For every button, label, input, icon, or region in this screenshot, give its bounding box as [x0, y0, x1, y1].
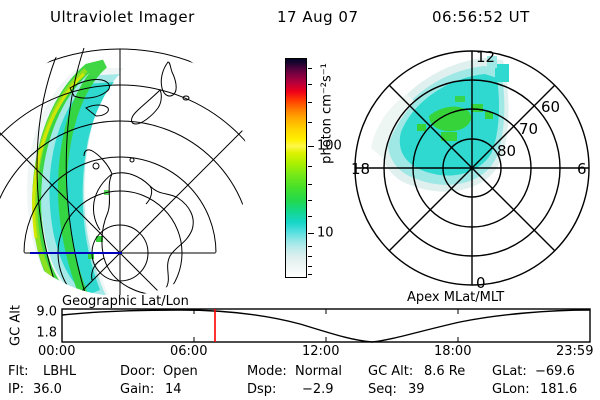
status-gcalt-label: GC Alt:: [368, 364, 413, 379]
status-glon-label: GLon:: [492, 382, 530, 397]
status-door-value: Open: [163, 364, 198, 379]
aurora-emission-geographic: [27, 64, 124, 295]
status-ip-value: 36.0: [33, 382, 62, 397]
colorbar-minor-tick: [308, 68, 312, 69]
mlt-label-12: 12: [476, 48, 495, 66]
colorbar-panel[interactable]: photon cm⁻²s⁻¹ 100 10: [285, 58, 307, 278]
status-glat-value: −69.6: [535, 364, 575, 379]
status-dsp-label: Dsp:: [247, 382, 276, 397]
colorbar-tick-label-10: 10: [317, 226, 334, 241]
colorbar-tick-10: [308, 233, 314, 234]
colorbar-minor-tick: [308, 246, 312, 247]
colorbar-axis-label: photon cm⁻²s⁻¹: [320, 49, 335, 179]
uvi-summary-plot: Ultraviolet Imager 17 Aug 07 06:56:52 UT: [0, 0, 600, 400]
colorbar-minor-tick: [308, 274, 312, 275]
colorbar-minor-tick: [308, 122, 312, 123]
magnetic-polar-panel[interactable]: 12 6 0 18 60 70 80 Apex MLat/MLT: [345, 40, 600, 295]
colorbar-minor-tick: [308, 166, 312, 167]
orbit-altitude-panel[interactable]: GC Alt 9.0 1.8 00:00 06:00: [0, 300, 600, 355]
colorbar-tick-100: [308, 146, 314, 147]
status-glon-value: 181.6: [540, 382, 577, 397]
mlt-label-18: 18: [351, 160, 370, 178]
status-gain-value: 14: [165, 382, 182, 397]
status-seq-value: 39: [408, 382, 425, 397]
status-footer: Flt: LBHL Door: Open Mode: Normal GC Alt…: [0, 364, 600, 400]
colorbar-tick-label-100: 100: [317, 139, 342, 154]
colorbar-minor-tick: [308, 102, 312, 103]
colorbar-minor-tick: [308, 200, 312, 201]
orbit-altitude-svg: [0, 300, 600, 355]
observation-date: 17 Aug 07: [277, 8, 359, 26]
instrument-title: Ultraviolet Imager: [50, 8, 195, 26]
status-gcalt-value: 8.6 Re: [424, 364, 465, 379]
aurora-emission-magnetic: [371, 56, 509, 192]
colorbar-minor-tick: [308, 84, 312, 85]
status-seq-label: Seq:: [368, 382, 397, 397]
orbit-xtick-0000: 00:00: [38, 344, 75, 359]
mlat-label-70: 70: [519, 120, 538, 138]
mlat-label-80: 80: [497, 142, 516, 160]
magnetic-polar-svg: 12 6 0 18 60 70 80: [345, 40, 600, 295]
orbit-xtick-0600: 06:00: [170, 344, 207, 359]
geographic-map-svg: [0, 40, 255, 295]
status-gain-label: Gain:: [120, 382, 154, 397]
mlt-label-6: 6: [577, 160, 587, 178]
mlat-label-60: 60: [541, 98, 560, 116]
orbit-xtick-2359: 23:59: [556, 344, 593, 359]
status-door-label: Door:: [120, 364, 155, 379]
status-flt-label: Flt:: [8, 364, 29, 379]
colorbar-minor-tick: [308, 216, 312, 217]
status-glat-label: GLat:: [492, 364, 527, 379]
colorbar-minor-tick: [308, 256, 312, 257]
status-mode-value: Normal: [295, 364, 342, 379]
observation-time: 06:56:52 UT: [432, 8, 530, 26]
orbit-xtick-1200: 12:00: [302, 344, 339, 359]
status-mode-label: Mode:: [247, 364, 287, 379]
status-flt-value: LBHL: [43, 364, 76, 379]
geographic-map-panel[interactable]: Geographic Lat/Lon: [0, 40, 255, 295]
colorbar-minor-tick: [308, 184, 312, 185]
status-dsp-value: −2.9: [302, 382, 334, 397]
orbit-xtick-1800: 18:00: [434, 344, 471, 359]
mlat-mlt-grid: [355, 51, 589, 285]
colorbar-gradient: [285, 58, 307, 278]
status-ip-label: IP:: [8, 382, 24, 397]
colorbar-minor-tick: [308, 266, 312, 267]
